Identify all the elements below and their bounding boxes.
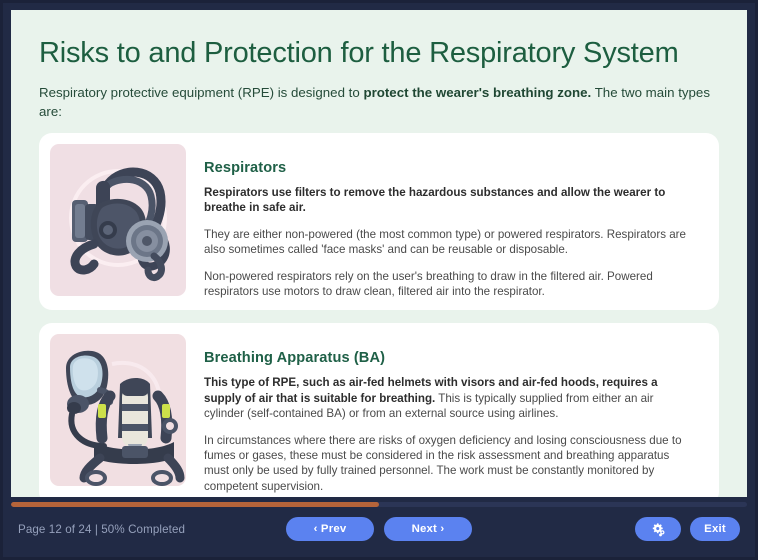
settings-button[interactable] [635,517,681,541]
card-heading-respirators: Respirators [204,160,694,176]
intro-text-before: Respiratory protective equipment (RPE) i… [39,85,363,100]
cogs-icon [651,522,666,537]
slide-content-panel: Risks to and Protection for the Respirat… [11,10,747,497]
progress-bar [11,502,747,507]
footer-controls: Page 12 of 24 | 50% Completed ‹ Prev Nex… [0,511,758,553]
intro-text-emphasis: protect the wearer's breathing zone. [363,85,591,100]
respirator-image [50,144,186,296]
next-button[interactable]: Next › [384,517,472,541]
slide-footer: Page 12 of 24 | 50% Completed ‹ Prev Nex… [0,500,758,560]
breathing-apparatus-image [50,334,186,486]
slide-navigation: ‹ Prev Next › [286,517,472,541]
progress-bar-fill [11,502,379,507]
slide-viewer: Risks to and Protection for the Respirat… [0,0,758,560]
respirators-lead-bold: Respirators use filters to remove the ha… [204,186,665,214]
page-title: Risks to and Protection for the Respirat… [39,35,719,71]
prev-button[interactable]: ‹ Prev [286,517,374,541]
content-card-respirators: Respirators Respirators use filters to r… [39,133,719,310]
breathing-apparatus-text: Breathing Apparatus (BA) This type of RP… [200,334,708,494]
exit-button[interactable]: Exit [690,517,740,541]
ba-paragraph-2: In circumstances where there are risks o… [204,433,694,495]
content-card-breathing-apparatus: Breathing Apparatus (BA) This type of RP… [39,323,719,497]
slide-intro: Respiratory protective equipment (RPE) i… [39,83,719,121]
respirators-paragraph-2: They are either non-powered (the most co… [204,227,694,258]
card-heading-breathing-apparatus: Breathing Apparatus (BA) [204,350,694,366]
ba-lead-paragraph: This type of RPE, such as air-fed helmet… [204,375,694,421]
footer-actions: Exit [635,517,740,541]
respirators-paragraph-3: Non-powered respirators rely on the user… [204,269,694,300]
respirators-text: Respirators Respirators use filters to r… [200,144,708,299]
page-status-text: Page 12 of 24 | 50% Completed [18,523,185,536]
respirators-lead-paragraph: Respirators use filters to remove the ha… [204,185,694,216]
